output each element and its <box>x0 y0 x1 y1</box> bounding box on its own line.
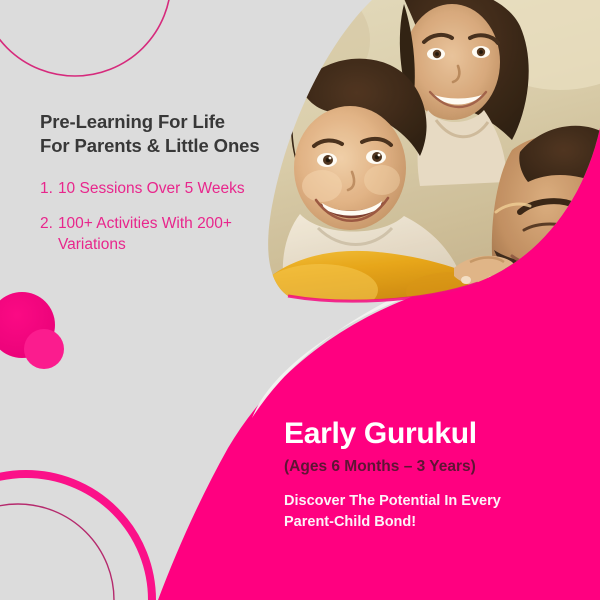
brand-block: Early Gurukul (Ages 6 Months – 3 Years) … <box>284 418 584 532</box>
poster-canvas: Pre-Learning For Life For Parents & Litt… <box>0 0 600 600</box>
list-item-number: 1. <box>40 179 53 200</box>
headline-line-1: Pre-Learning For Life <box>40 111 225 132</box>
tagline: Discover The Potential In Every Parent-C… <box>284 491 584 532</box>
list-item: 2. 100+ Activities With 200+ Variations <box>40 214 300 256</box>
tagline-line-2: Parent-Child Bond! <box>284 512 584 533</box>
list-item-label: 100+ Activities With 200+ Variations <box>58 214 300 256</box>
brand-title: Early Gurukul <box>284 418 584 450</box>
list-item-number: 2. <box>40 214 53 235</box>
feature-list: 1. 10 Sessions Over 5 Weeks 2. 100+ Acti… <box>40 179 300 256</box>
age-range-label: (Ages 6 Months – 3 Years) <box>284 458 584 477</box>
left-copy-block: Pre-Learning For Life For Parents & Litt… <box>40 110 300 270</box>
headline-line-2: For Parents & Little Ones <box>40 134 300 158</box>
decorative-blob-small <box>24 329 64 369</box>
list-item: 1. 10 Sessions Over 5 Weeks <box>40 179 300 200</box>
headline: Pre-Learning For Life For Parents & Litt… <box>40 110 300 157</box>
list-item-label: 10 Sessions Over 5 Weeks <box>58 179 300 200</box>
tagline-line-1: Discover The Potential In Every <box>284 491 584 512</box>
